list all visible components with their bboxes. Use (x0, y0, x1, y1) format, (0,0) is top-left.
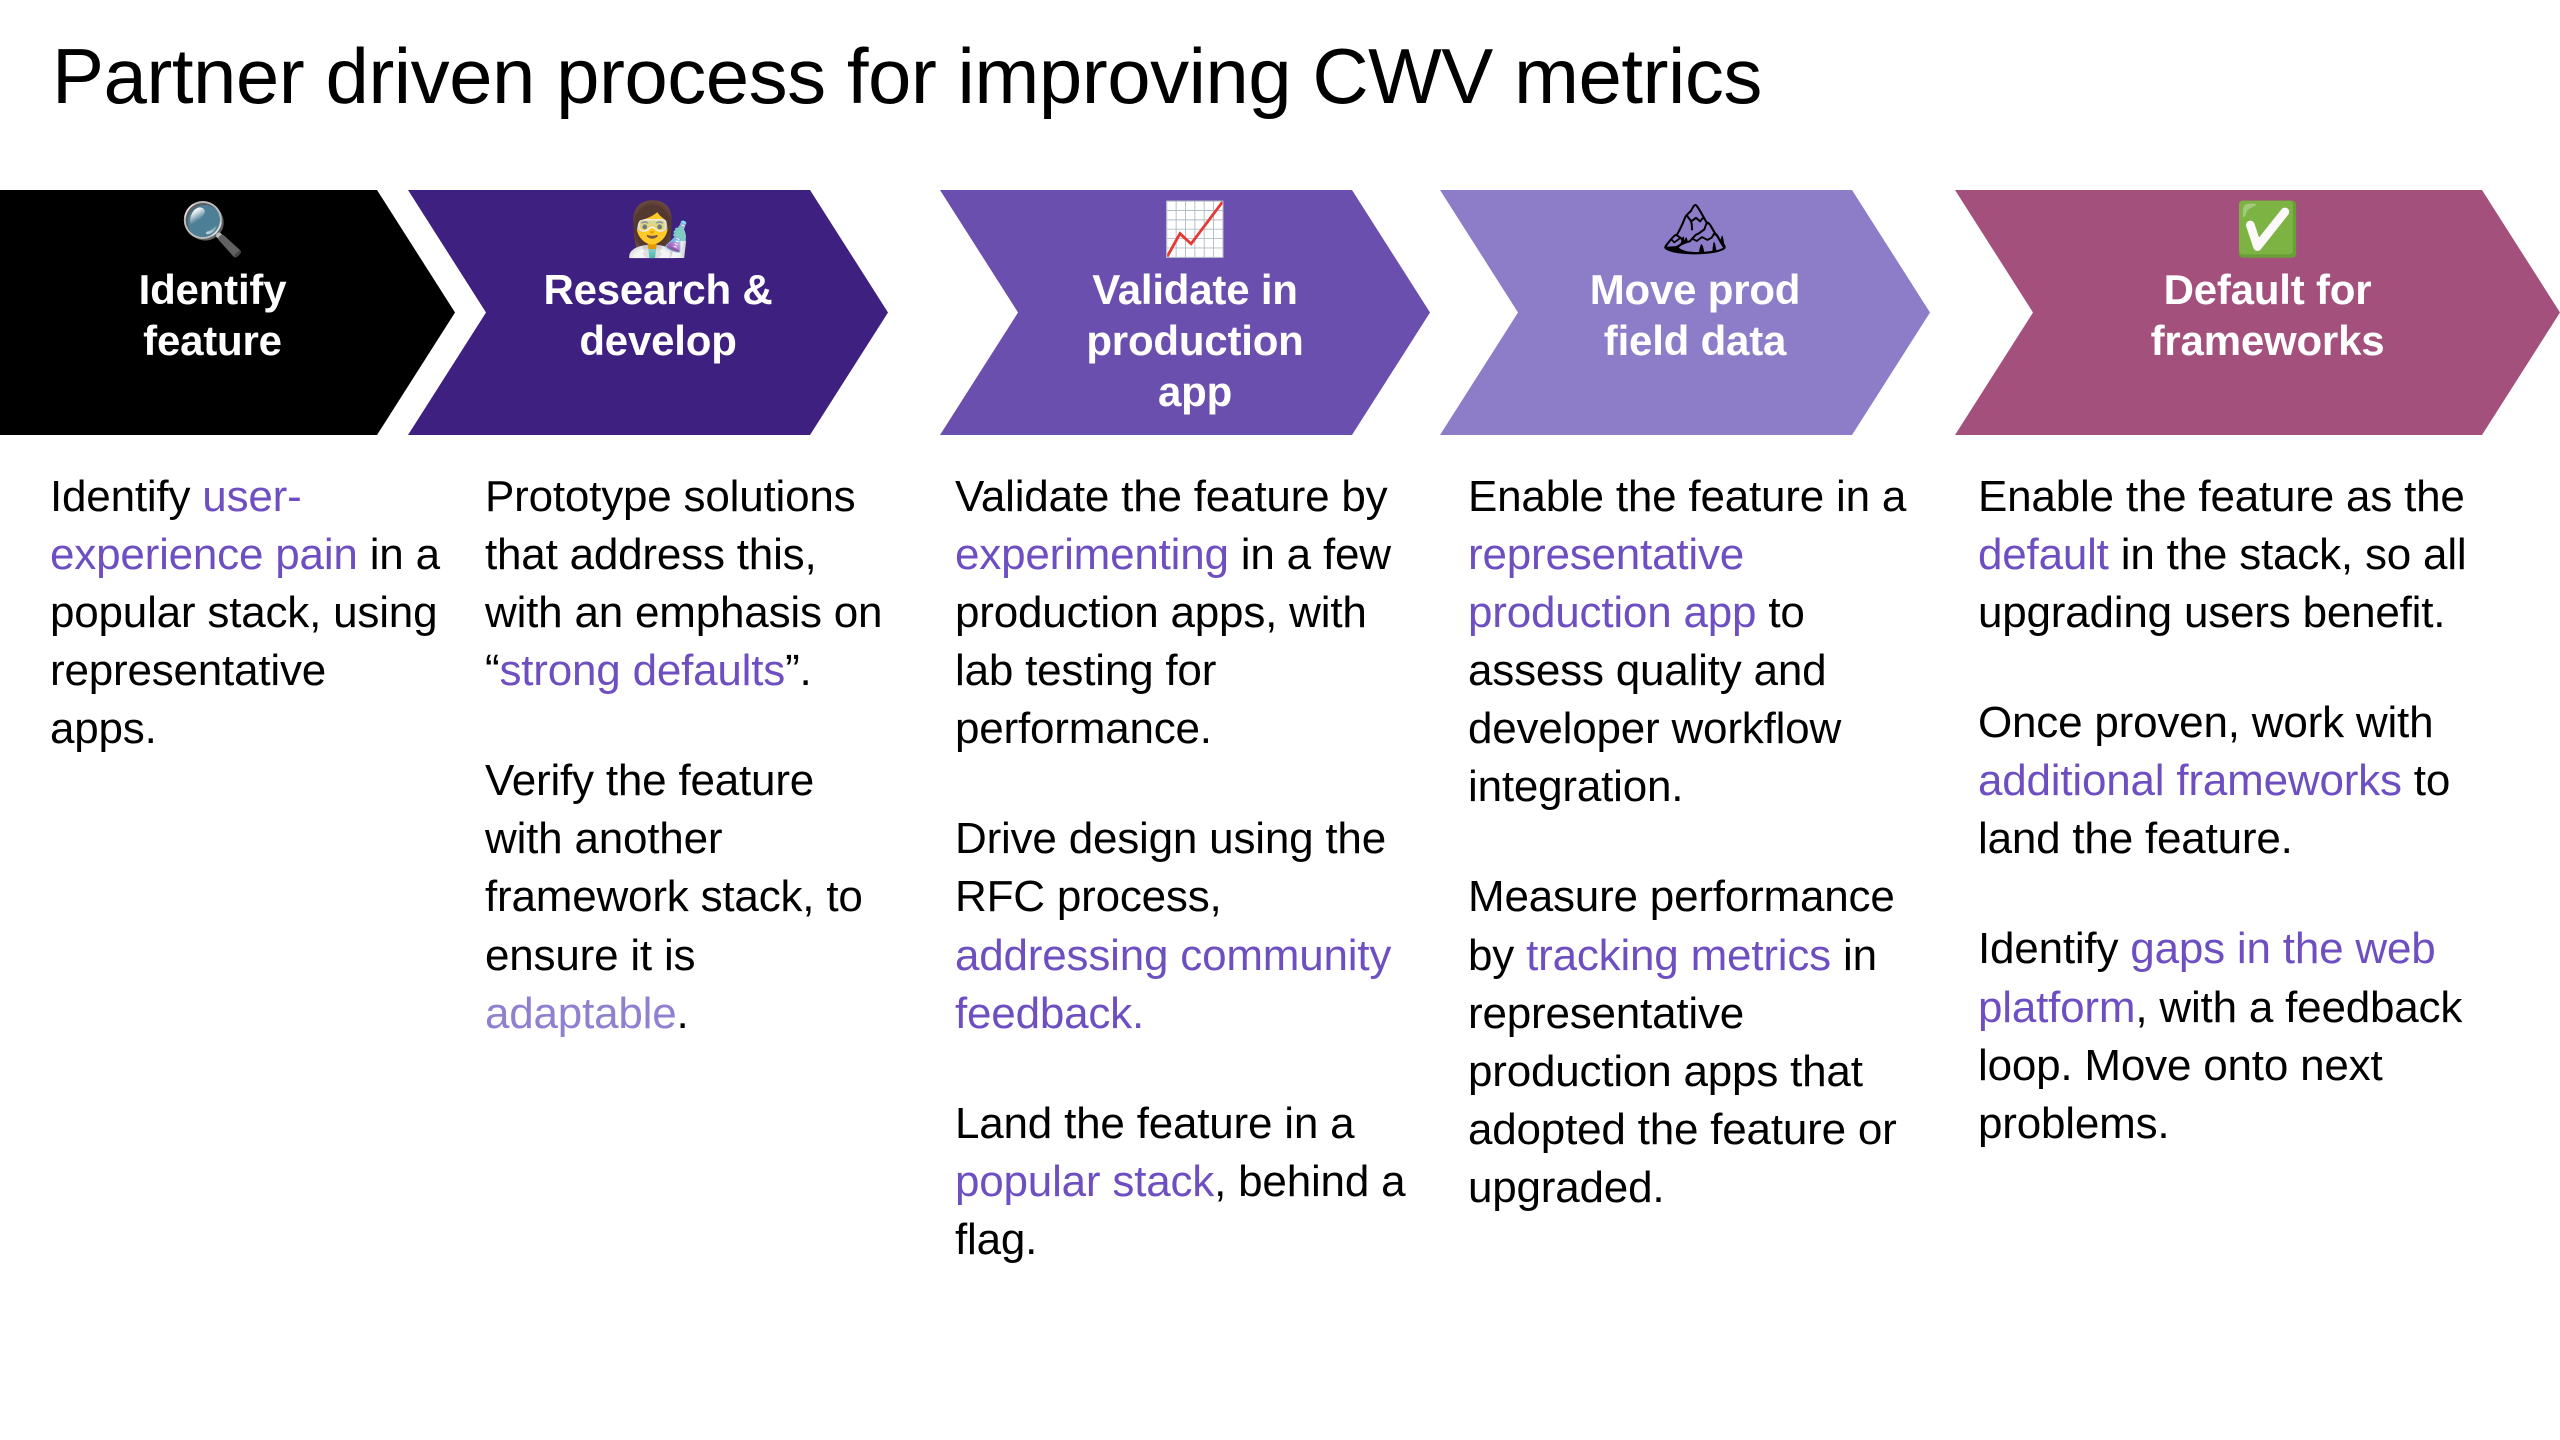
text-run: ”. (785, 646, 811, 695)
text-run: Identify (50, 472, 202, 521)
description-paragraph: Identify gaps in the web platform, with … (1978, 920, 2523, 1152)
highlight-text-run: popular stack (955, 1157, 1214, 1206)
description-paragraph: Verify the feature with another framewor… (485, 752, 885, 1042)
process-stage-label-3: Validate in production app (1076, 264, 1313, 418)
process-description-columns: Identify user-experience pain in a popul… (0, 468, 2560, 1368)
process-description-column-2: Prototype solutions that address this, w… (485, 468, 885, 1043)
magnifying-glass-icon: 🔍 (180, 204, 245, 260)
description-paragraph: Enable the feature as the default in the… (1978, 468, 2523, 642)
text-run: Once proven, work with (1978, 698, 2433, 747)
text-run: Enable the feature in a (1468, 472, 1906, 521)
process-stage-chevron-2[interactable]: 👩‍🔬Research & develop (408, 190, 888, 435)
description-paragraph: Identify user-experience pain in a popul… (50, 468, 440, 758)
description-paragraph: Enable the feature in a representative p… (1468, 468, 1938, 816)
highlight-text-run: default (1978, 530, 2109, 579)
mountain-icon: 🏔 (1662, 204, 1728, 260)
text-run: Enable the feature as the (1978, 472, 2465, 521)
highlight-text-run: additional frameworks (1978, 756, 2402, 805)
process-stage-chevron-1[interactable]: 🔍Identify feature (0, 190, 455, 435)
process-chevron-band: 🔍Identify feature👩‍🔬Research & develop📈V… (0, 190, 2560, 435)
process-description-column-4: Enable the feature in a representative p… (1468, 468, 1938, 1217)
description-paragraph: Once proven, work with additional framew… (1978, 694, 2523, 868)
text-run: Drive design using the RFC process, (955, 814, 1386, 921)
text-run: Identify (1978, 924, 2130, 973)
description-paragraph: Prototype solutions that address this, w… (485, 468, 885, 700)
text-run: Land the feature in a (955, 1099, 1354, 1148)
slide-root: Partner driven process for improving CWV… (0, 0, 2560, 1440)
highlight-text-run: strong defaults (499, 646, 785, 695)
description-paragraph: Land the feature in a popular stack, beh… (955, 1095, 1425, 1269)
text-run: . (677, 989, 689, 1038)
process-description-column-1: Identify user-experience pain in a popul… (50, 468, 440, 758)
highlight-text-run: addressing community feedback. (955, 931, 1391, 1038)
process-stage-label-5: Default for frameworks (2141, 264, 2395, 366)
description-paragraph: Validate the feature by experimenting in… (955, 468, 1425, 758)
description-paragraph: Drive design using the RFC process, addr… (955, 810, 1425, 1042)
page-title: Partner driven process for improving CWV… (52, 32, 1762, 122)
process-description-column-3: Validate the feature by experimenting in… (955, 468, 1425, 1269)
woman-scientist-icon: 👩‍🔬 (626, 204, 691, 260)
process-stage-chevron-4[interactable]: 🏔Move prod field data (1440, 190, 1930, 435)
highlight-text-run: adaptable (485, 989, 677, 1038)
text-run: Verify the feature with another framewor… (485, 756, 863, 979)
highlight-text-run: experimenting (955, 530, 1229, 579)
text-run: Validate the feature by (955, 472, 1387, 521)
check-mark-button-icon: ✅ (2235, 204, 2300, 260)
process-stage-label-4: Move prod field data (1580, 264, 1811, 366)
description-paragraph: Measure performance by tracking metrics … (1468, 868, 1938, 1216)
process-stage-label-1: Identify feature (129, 264, 297, 366)
process-description-column-5: Enable the feature as the default in the… (1978, 468, 2523, 1153)
highlight-text-run: tracking metrics (1526, 931, 1831, 980)
highlight-text-run: representative production app (1468, 530, 1756, 637)
chart-increasing-icon: 📈 (1163, 204, 1228, 260)
process-stage-chevron-3[interactable]: 📈Validate in production app (940, 190, 1430, 435)
process-stage-chevron-5[interactable]: ✅Default for frameworks (1955, 190, 2560, 435)
process-stage-label-2: Research & develop (533, 264, 782, 366)
